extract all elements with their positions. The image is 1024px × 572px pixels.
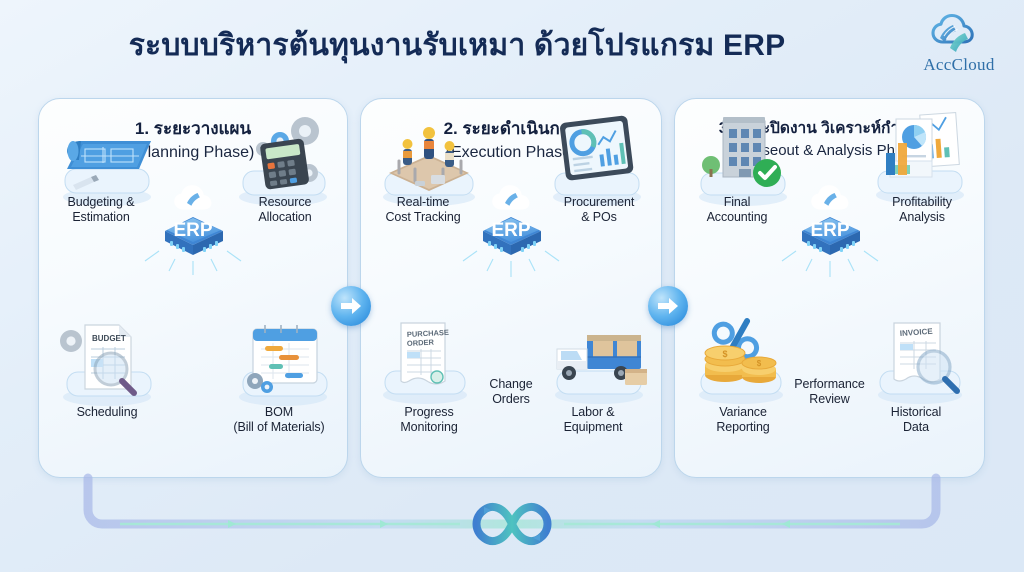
erp-hub-label: ERP bbox=[491, 220, 530, 241]
panel-body-execution: Real-time Cost Tracking Procurement & PO… bbox=[361, 177, 661, 478]
panel-body-planning: Budgeting & Estimation Resource Allocati… bbox=[39, 177, 347, 478]
phase-panel-planning[interactable]: 1. ระยะวางแผน (Planning Phase) bbox=[38, 98, 348, 478]
svg-text:$: $ bbox=[757, 359, 762, 368]
cloud-book-logo-icon bbox=[910, 8, 1008, 58]
brand-logo: AccCloud bbox=[910, 8, 1008, 84]
erp-cloud-chip-icon: ERP bbox=[453, 173, 569, 281]
item-label: Historical Data bbox=[856, 405, 976, 435]
svg-text:$: $ bbox=[722, 349, 727, 359]
infinity-loop-icon bbox=[462, 496, 562, 552]
svg-text:BUDGET: BUDGET bbox=[92, 334, 126, 343]
item-label: Variance Reporting bbox=[683, 405, 803, 435]
budget-document-magnifier-icon: BUDGET bbox=[45, 317, 163, 413]
erp-hub-label: ERP bbox=[810, 220, 849, 241]
item-label: Labor & Equipment bbox=[533, 405, 653, 435]
logo-wordmark: AccCloud bbox=[910, 55, 1008, 75]
item-label: Change Orders bbox=[456, 377, 566, 407]
arrow-planning-to-execution[interactable] bbox=[331, 286, 371, 326]
panel-body-closeout: Final Accounting Profitability Analysis … bbox=[675, 177, 984, 478]
gantt-calendar-icon bbox=[225, 317, 343, 413]
phase-panel-closeout[interactable]: 3. ระยะปิดงาน วิเคราะห์กำไรจริง (Closeou… bbox=[674, 98, 985, 478]
erp-hub-label: ERP bbox=[173, 220, 212, 241]
item-label: BOM (Bill of Materials) bbox=[219, 405, 339, 435]
arrow-execution-to-closeout[interactable] bbox=[648, 286, 688, 326]
erp-cloud-chip-icon: ERP bbox=[135, 173, 251, 281]
svg-text:ORDER: ORDER bbox=[407, 338, 435, 348]
item-label: Progress Monitoring bbox=[369, 405, 489, 435]
phase-panel-execution[interactable]: 2. ระยะดำเนินการ (Execution Phase) bbox=[360, 98, 662, 478]
arrow-right-icon bbox=[339, 296, 363, 316]
infographic-canvas: ระบบบริหารต้นทุนงานรับเหมา ด้วยโปรแกรม E… bbox=[0, 0, 1024, 572]
erp-cloud-chip-icon: ERP bbox=[772, 173, 888, 281]
item-label: Performance Review bbox=[775, 377, 885, 407]
header: ระบบบริหารต้นทุนงานรับเหมา ด้วยโปรแกรม E… bbox=[0, 0, 1024, 92]
item-label: Scheduling bbox=[47, 405, 167, 420]
page-title: ระบบบริหารต้นทุนงานรับเหมา ด้วยโปรแกรม E… bbox=[0, 22, 1024, 69]
arrow-right-icon bbox=[656, 296, 680, 316]
